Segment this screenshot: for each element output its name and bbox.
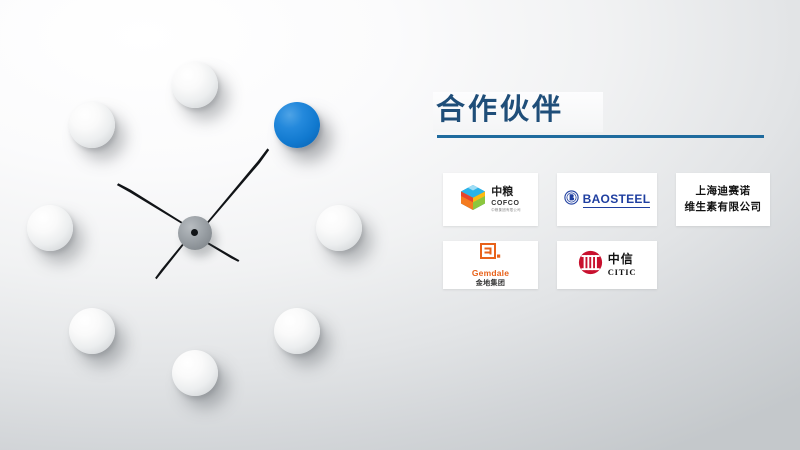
citic-en-label: CITIC [608, 268, 637, 277]
clock-marker-4 [274, 308, 320, 354]
logo-card-baosteel[interactable]: BAOSTEEL [557, 173, 657, 226]
slide-canvas: 合作伙伴 [0, 0, 800, 450]
logo-card-disano[interactable]: 上海迪赛诺 维生素有限公司 [676, 173, 770, 226]
clock-marker-10 [69, 102, 115, 148]
cofco-sub-label: 中粮集团有限公司 [491, 209, 521, 212]
clock-marker-7 [69, 308, 115, 354]
cofco-cn-label: 中粮 [491, 187, 513, 198]
panel-header: 合作伙伴 [430, 90, 775, 138]
disano-line-1: 上海迪赛诺 [685, 184, 762, 199]
logo-row-1: 中粮 COFCO 中粮集团有限公司 [443, 173, 775, 226]
title-underline [437, 135, 764, 138]
citic-cn-label: 中信 [608, 253, 634, 265]
clock-marker-6 [172, 350, 218, 396]
wall-clock-decoration [8, 40, 388, 410]
page-title: 合作伙伴 [436, 90, 564, 130]
partner-logo-grid: 中粮 COFCO 中粮集团有限公司 [443, 173, 775, 304]
disano-line-2: 维生素有限公司 [685, 200, 762, 215]
logo-row-2: Gemdale 金地集团 [443, 241, 775, 289]
cofco-cube-icon [460, 184, 486, 216]
citic-emblem-icon [578, 250, 603, 280]
gemdale-mark-icon [480, 243, 501, 266]
logo-card-gemdale[interactable]: Gemdale 金地集团 [443, 241, 538, 289]
clock-marker-3 [316, 205, 362, 251]
logo-card-cofco[interactable]: 中粮 COFCO 中粮集团有限公司 [443, 173, 538, 226]
gemdale-cn-label: 金地集团 [476, 280, 506, 287]
clock-marker-1-highlight [274, 102, 320, 148]
partners-panel: 合作伙伴 [430, 90, 775, 305]
clock-center-pin [191, 229, 198, 236]
baosteel-emblem-icon [564, 190, 579, 210]
baosteel-wordmark: BAOSTEEL [583, 192, 651, 208]
clock-marker-12 [172, 62, 218, 108]
gemdale-en-label: Gemdale [472, 269, 509, 278]
logo-card-citic[interactable]: 中信 CITIC [557, 241, 657, 289]
cofco-en-label: COFCO [491, 200, 519, 207]
clock-marker-9 [27, 205, 73, 251]
